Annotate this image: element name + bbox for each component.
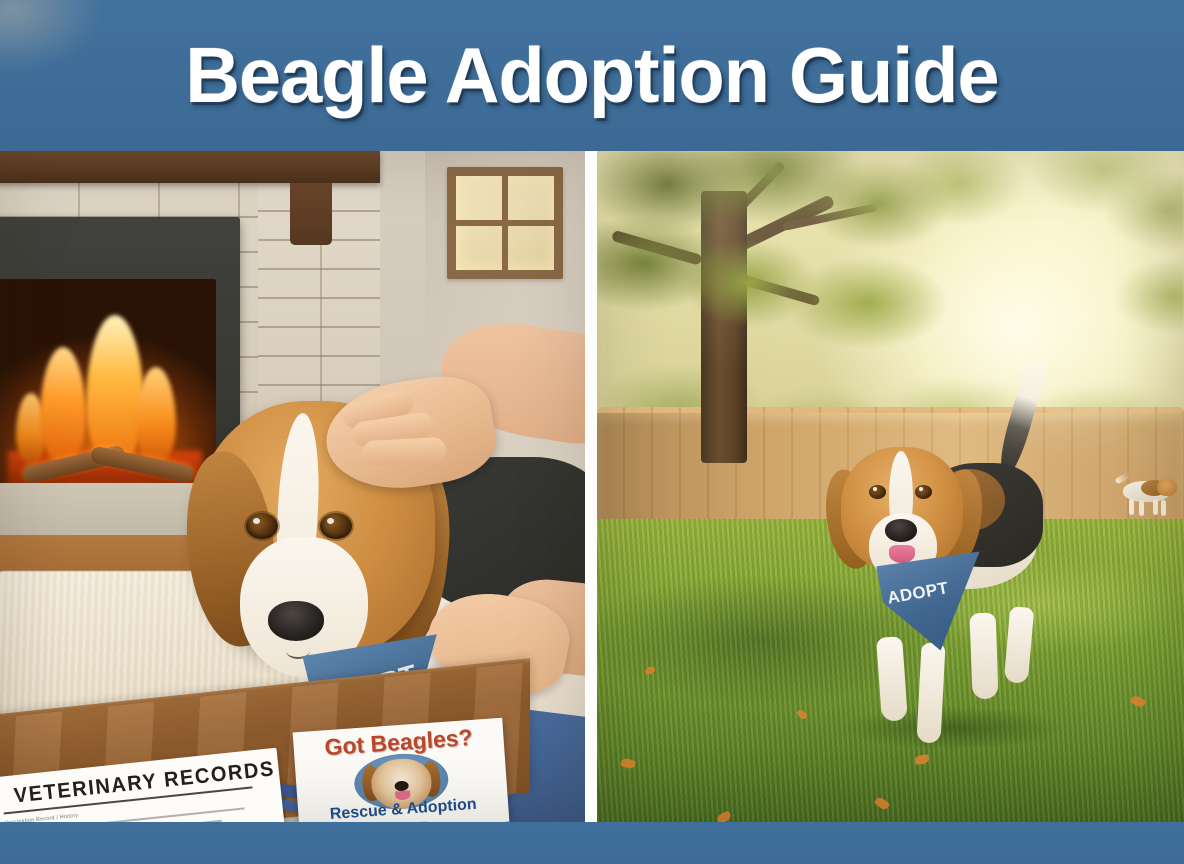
- running-beagle-leg: [970, 613, 999, 700]
- distant-beagle-head: [1157, 479, 1177, 496]
- distant-beagle-leg: [1129, 499, 1134, 515]
- running-beagle-eye-right: [915, 485, 932, 499]
- mantel-corbel: [290, 183, 332, 245]
- running-beagle-nose: [885, 519, 917, 542]
- panel-divider: [585, 151, 597, 822]
- form-field-label: Vaccination Record / History: [5, 813, 79, 822]
- flame-icon: [136, 367, 176, 463]
- distant-beagle-leg: [1153, 499, 1158, 515]
- beagle-eye-right: [320, 513, 352, 539]
- distant-beagle: [1113, 473, 1177, 517]
- beagle-nose: [268, 601, 324, 641]
- finger: [361, 437, 446, 466]
- poster-root: Beagle Adoption Guide: [0, 0, 1184, 864]
- right-photo-panel: ADOPT: [597, 151, 1184, 822]
- footer-bar: [0, 822, 1184, 864]
- flame-icon: [40, 347, 86, 463]
- beagle-ground-shadow: [843, 707, 1063, 749]
- firebox: [0, 279, 216, 485]
- distant-beagle-leg: [1161, 500, 1166, 516]
- fireplace-mantel: [0, 151, 380, 183]
- distant-beagle-leg: [1139, 500, 1144, 516]
- window-icon: [447, 167, 563, 279]
- fireplace-frame: [0, 217, 240, 485]
- adoption-brochure: Got Beagles? Rescue & Adoption beagleres…: [293, 718, 510, 822]
- running-beagle-eye-left: [869, 485, 886, 499]
- header-banner: Beagle Adoption Guide: [0, 0, 1184, 151]
- left-photo-panel: ADOPT Microchip and Registration Details…: [0, 151, 585, 822]
- distant-beagle-tail: [1115, 472, 1132, 485]
- beagle-eye-left: [246, 513, 278, 539]
- tree-canopy-leaves: [597, 151, 1184, 481]
- running-beagle-tongue: [889, 545, 915, 563]
- flame-icon: [86, 315, 144, 463]
- page-title: Beagle Adoption Guide: [18, 36, 1166, 114]
